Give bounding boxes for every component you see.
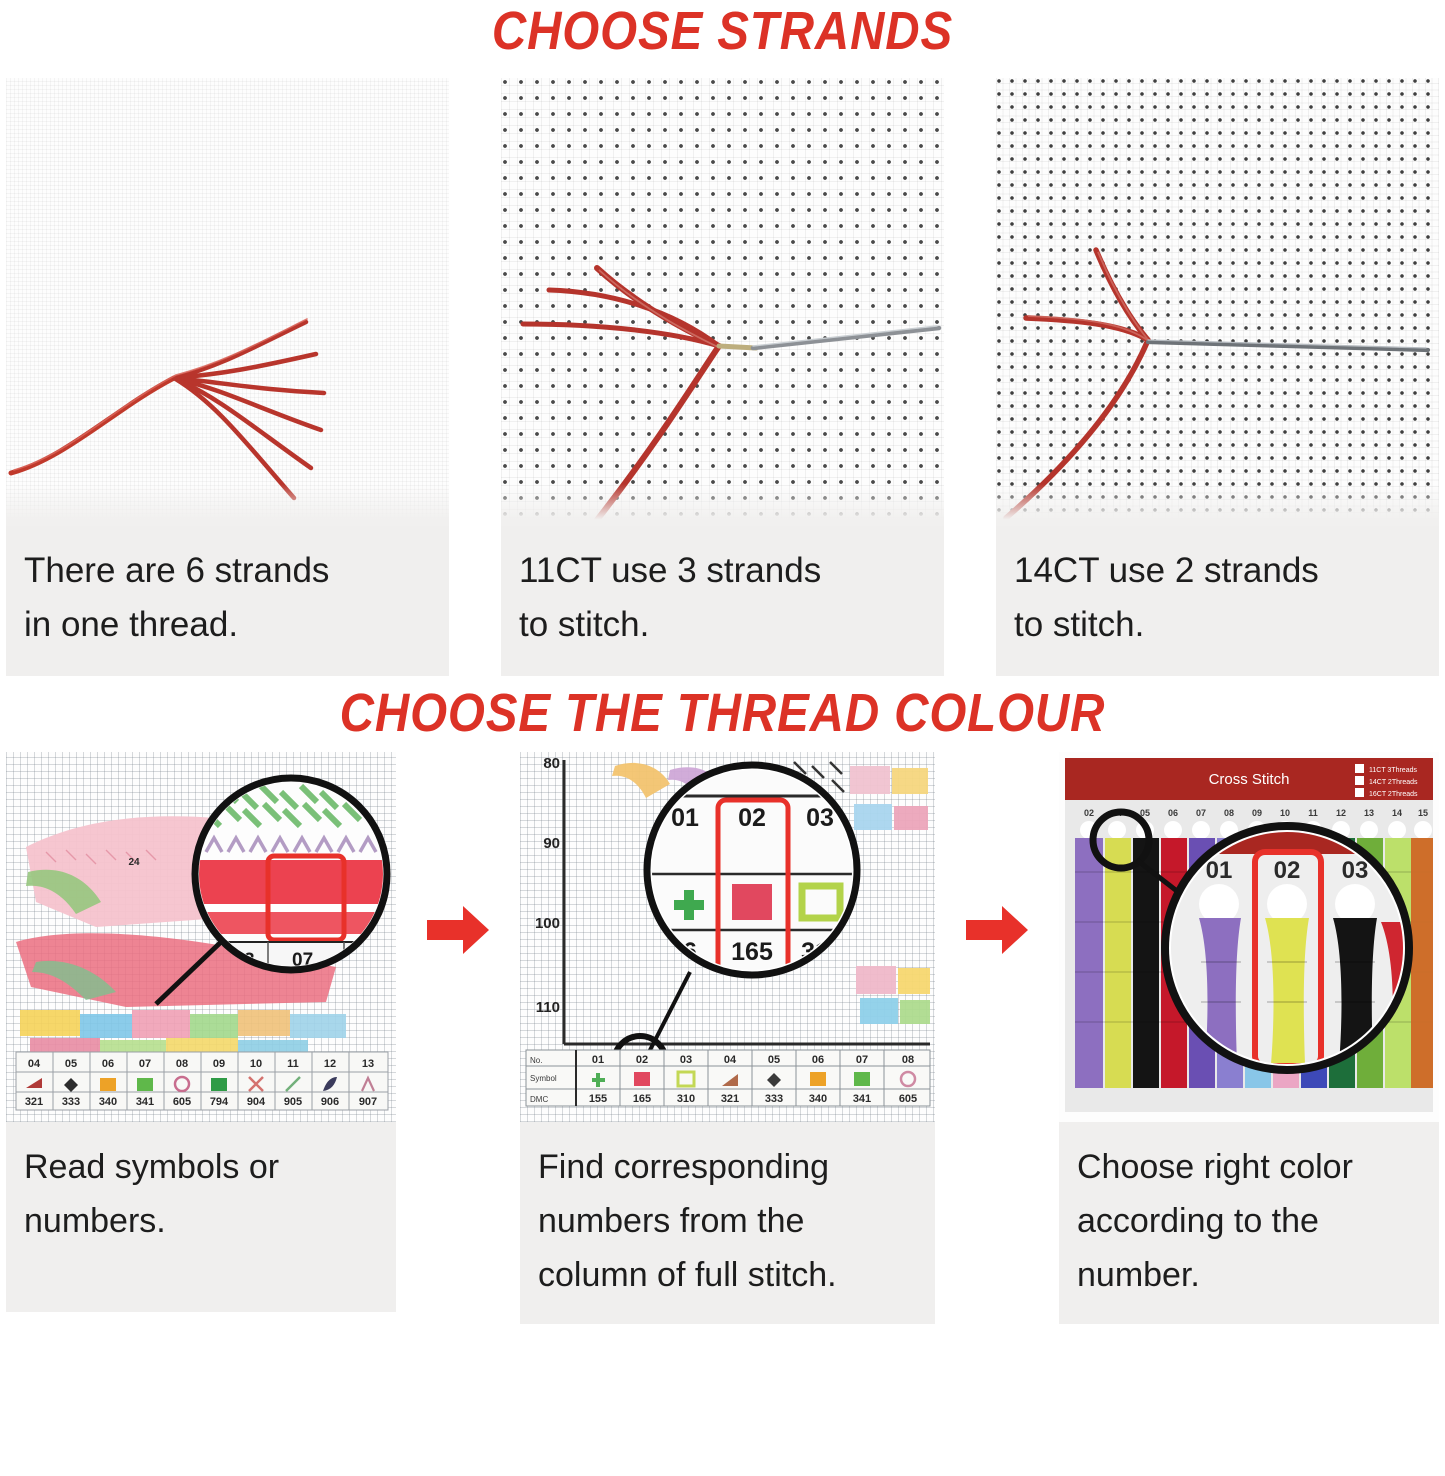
svg-text:165: 165 <box>633 1093 651 1105</box>
svg-text:04: 04 <box>724 1054 737 1066</box>
colour-card-read-symbols: 24 <box>6 752 396 1312</box>
svg-text:11: 11 <box>1308 808 1318 818</box>
svg-text:11CT 3Threads: 11CT 3Threads <box>1369 767 1417 774</box>
svg-text:14CT 2Threads: 14CT 2Threads <box>1369 779 1418 786</box>
strand-card-caption: There are 6 strands in one thread. <box>6 526 449 676</box>
caption-line: numbers from the <box>538 1194 919 1248</box>
svg-text:100: 100 <box>535 915 560 932</box>
svg-text:02: 02 <box>636 1054 648 1066</box>
caption-line: Choose right color <box>1077 1140 1423 1194</box>
svg-text:321: 321 <box>25 1096 43 1108</box>
svg-text:110: 110 <box>536 999 560 1016</box>
caption-line: numbers. <box>24 1194 380 1248</box>
caption-line: according to the <box>1077 1194 1423 1248</box>
svg-text:905: 905 <box>284 1096 302 1108</box>
chart-area-number: 24 <box>128 857 140 868</box>
svg-text:Symbol: Symbol <box>530 1074 557 1083</box>
magnifier-column-label: 03 <box>806 804 834 832</box>
fabric-bottom-fade <box>996 484 1439 526</box>
svg-text:12: 12 <box>1336 808 1346 818</box>
magnifier-skein-label: 02 <box>1274 857 1301 884</box>
right-arrow-icon-2 <box>961 902 1033 958</box>
svg-text:907: 907 <box>359 1096 377 1108</box>
svg-text:14: 14 <box>1392 808 1402 818</box>
svg-text:341: 341 <box>853 1093 871 1105</box>
chart-row-labels: 80 90 100 110 <box>535 755 560 1016</box>
caption-line: in one thread. <box>24 598 433 652</box>
svg-text:04: 04 <box>28 1058 41 1070</box>
plain-fabric-image <box>6 78 449 526</box>
svg-text:310: 310 <box>677 1093 695 1105</box>
strand-card-caption: 14CT use 2 strands to stitch. <box>996 526 1439 676</box>
svg-text:06: 06 <box>812 1054 824 1066</box>
caption-line: Find corresponding <box>538 1140 919 1194</box>
caption-line: There are 6 strands <box>24 544 433 598</box>
svg-text:07: 07 <box>139 1058 151 1070</box>
strand-card-11ct: 11CT use 3 strands to stitch. <box>501 78 944 676</box>
svg-text:07: 07 <box>856 1054 868 1066</box>
svg-text:13: 13 <box>1364 808 1374 818</box>
svg-text:02: 02 <box>1084 808 1094 818</box>
page-title-choose-strands: CHOOSE STRANDS <box>87 0 1359 60</box>
magnifier-column-label: 01 <box>671 804 699 832</box>
svg-text:08: 08 <box>1224 808 1234 818</box>
caption-line: column of full stitch. <box>538 1248 919 1302</box>
svg-text:09: 09 <box>1252 808 1262 818</box>
organizer-header-title: Cross Stitch <box>1209 771 1290 788</box>
strand-card-six-strands: There are 6 strands in one thread. <box>6 78 449 676</box>
svg-text:07: 07 <box>1196 808 1206 818</box>
colour-card-row: 24 <box>0 752 1445 1324</box>
svg-text:05: 05 <box>768 1054 780 1066</box>
svg-text:15: 15 <box>1418 808 1428 818</box>
svg-text:05: 05 <box>65 1058 77 1070</box>
svg-text:06: 06 <box>1168 808 1178 818</box>
strand-card-caption: 11CT use 3 strands to stitch. <box>501 526 944 676</box>
svg-text:340: 340 <box>99 1096 117 1108</box>
caption-line: to stitch. <box>519 598 928 652</box>
pattern-chart-full-stitch-image: 80 90 100 110 <box>520 752 935 1122</box>
strands-card-row: There are 6 strands in one thread. <box>0 78 1445 676</box>
legend-table: 040506 070809 101112 13 <box>16 1052 388 1110</box>
fabric-bottom-fade <box>6 484 449 526</box>
magnifier-column-label: 02 <box>738 804 766 832</box>
svg-text:13: 13 <box>362 1058 374 1070</box>
svg-text:08: 08 <box>902 1054 914 1066</box>
legend-table: No. Symbol DMC 010203 040506 0708 <box>526 1050 930 1106</box>
svg-text:605: 605 <box>173 1096 191 1108</box>
svg-text:333: 333 <box>62 1096 80 1108</box>
caption-line: number. <box>1077 1248 1423 1302</box>
magnifier-dmc-label: 165 <box>731 938 773 966</box>
thread-organizer-image: Cross Stitch 11CT 3Threads 14CT 2Threads… <box>1059 752 1439 1122</box>
svg-text:No.: No. <box>530 1056 542 1065</box>
svg-text:10: 10 <box>250 1058 262 1070</box>
svg-text:12: 12 <box>324 1058 336 1070</box>
page-title-choose-thread-colour: CHOOSE THE THREAD COLOUR <box>87 684 1359 742</box>
svg-text:10: 10 <box>1280 808 1290 818</box>
right-arrow-icon-1 <box>422 902 494 958</box>
svg-text:794: 794 <box>210 1096 229 1108</box>
colour-card-find-numbers: 80 90 100 110 <box>520 752 935 1324</box>
svg-text:03: 03 <box>680 1054 692 1066</box>
svg-text:333: 333 <box>765 1093 783 1105</box>
svg-text:09: 09 <box>213 1058 225 1070</box>
svg-text:605: 605 <box>899 1093 917 1105</box>
caption-line: Read symbols or <box>24 1140 380 1194</box>
fabric-bottom-fade <box>501 484 944 526</box>
svg-text:155: 155 <box>589 1093 607 1105</box>
svg-text:321: 321 <box>721 1093 739 1105</box>
colour-card-caption: Choose right color according to the numb… <box>1059 1122 1439 1324</box>
svg-text:80: 80 <box>543 755 560 772</box>
svg-text:06: 06 <box>102 1058 114 1070</box>
colour-card-caption: Read symbols or numbers. <box>6 1122 396 1312</box>
caption-line: 14CT use 2 strands <box>1014 544 1423 598</box>
svg-text:90: 90 <box>543 835 560 852</box>
svg-text:11: 11 <box>287 1058 299 1070</box>
svg-text:DMC: DMC <box>530 1095 548 1104</box>
svg-text:341: 341 <box>136 1096 154 1108</box>
caption-line: 11CT use 3 strands <box>519 544 928 598</box>
aida-11ct-fabric-image <box>501 78 944 526</box>
svg-text:906: 906 <box>321 1096 339 1108</box>
svg-text:16CT 2Threads: 16CT 2Threads <box>1369 791 1418 798</box>
strand-card-14ct: 14CT use 2 strands to stitch. <box>996 78 1439 676</box>
svg-text:340: 340 <box>809 1093 827 1105</box>
colour-card-choose-thread: Cross Stitch 11CT 3Threads 14CT 2Threads… <box>1059 752 1439 1324</box>
colour-card-caption: Find corresponding numbers from the colu… <box>520 1122 935 1324</box>
svg-text:08: 08 <box>176 1058 188 1070</box>
caption-line: to stitch. <box>1014 598 1423 652</box>
aida-14ct-fabric-image <box>996 78 1439 526</box>
pattern-chart-symbols-image: 24 <box>6 752 396 1122</box>
svg-text:01: 01 <box>592 1054 604 1066</box>
svg-text:904: 904 <box>247 1096 266 1108</box>
